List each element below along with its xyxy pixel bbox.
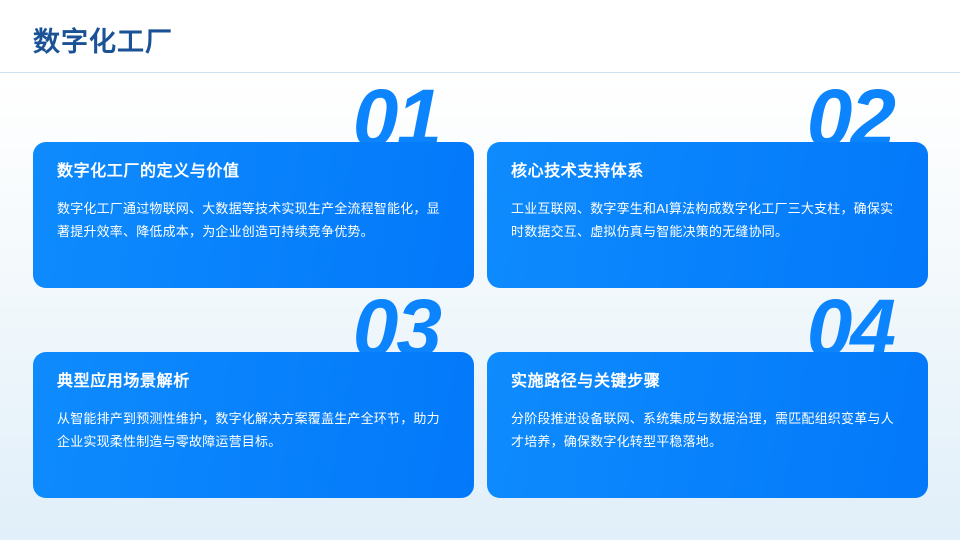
card-title: 典型应用场景解析	[57, 372, 450, 391]
card-body[interactable]: 典型应用场景解析 从智能排产到预测性维护，数字化解决方案覆盖生产全环节，助力企业…	[33, 352, 474, 498]
card-description: 数字化工厂通过物联网、大数据等技术实现生产全流程智能化，显著提升效率、降低成本，…	[57, 198, 450, 244]
content-card[interactable]: 02 核心技术支持体系 工业互联网、数字孪生和AI算法构成数字化工厂三大支柱，确…	[487, 85, 928, 295]
content-card[interactable]: 04 实施路径与关键步骤 分阶段推进设备联网、系统集成与数据治理，需匹配组织变革…	[487, 295, 928, 505]
card-description: 分阶段推进设备联网、系统集成与数据治理，需匹配组织变革与人才培养，确保数字化转型…	[511, 408, 904, 454]
card-description: 从智能排产到预测性维护，数字化解决方案覆盖生产全环节，助力企业实现柔性制造与零故…	[57, 408, 450, 454]
card-body[interactable]: 核心技术支持体系 工业互联网、数字孪生和AI算法构成数字化工厂三大支柱，确保实时…	[487, 142, 928, 288]
card-title: 数字化工厂的定义与价值	[57, 162, 450, 181]
card-description: 工业互联网、数字孪生和AI算法构成数字化工厂三大支柱，确保实时数据交互、虚拟仿真…	[511, 198, 904, 244]
card-grid: 01 数字化工厂的定义与价值 数字化工厂通过物联网、大数据等技术实现生产全流程智…	[0, 0, 960, 540]
card-body[interactable]: 数字化工厂的定义与价值 数字化工厂通过物联网、大数据等技术实现生产全流程智能化，…	[33, 142, 474, 288]
card-title: 实施路径与关键步骤	[511, 372, 904, 391]
content-card[interactable]: 03 典型应用场景解析 从智能排产到预测性维护，数字化解决方案覆盖生产全环节，助…	[33, 295, 474, 505]
content-card[interactable]: 01 数字化工厂的定义与价值 数字化工厂通过物联网、大数据等技术实现生产全流程智…	[33, 85, 474, 295]
card-body[interactable]: 实施路径与关键步骤 分阶段推进设备联网、系统集成与数据治理，需匹配组织变革与人才…	[487, 352, 928, 498]
card-title: 核心技术支持体系	[511, 162, 904, 181]
